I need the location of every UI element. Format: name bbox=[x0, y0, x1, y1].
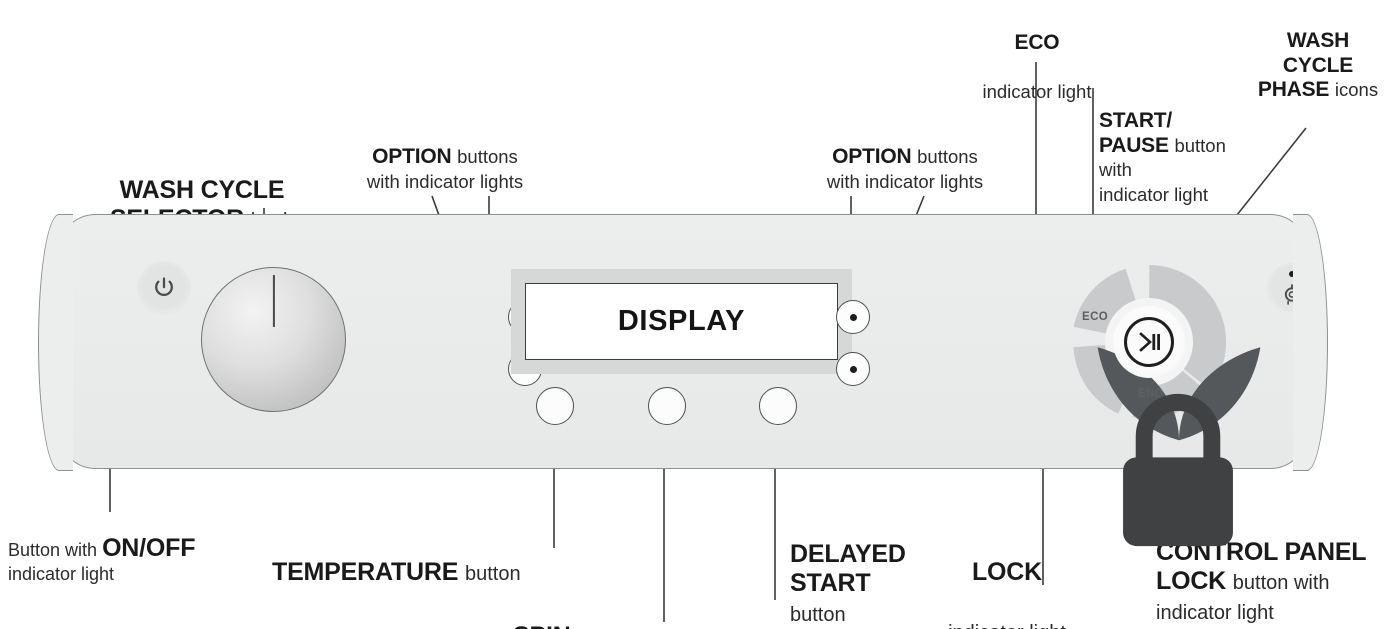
control-panel: DISPLAY bbox=[55, 214, 1311, 469]
start-pause-button[interactable] bbox=[1113, 306, 1185, 378]
indicator-dot-icon bbox=[1289, 271, 1295, 277]
knob-pointer-mark bbox=[272, 275, 274, 327]
display-text: DISPLAY bbox=[618, 305, 745, 338]
indicator-dot-icon bbox=[850, 314, 857, 321]
callout-temperature-normal: button bbox=[465, 563, 521, 585]
display-bezel: DISPLAY bbox=[511, 269, 852, 374]
wash-cycle-phase-dial: ECO END bbox=[1056, 249, 1242, 435]
callout-delayed-start-normal: button bbox=[790, 604, 846, 626]
padlock-icon bbox=[1085, 377, 1271, 563]
callout-wash-cycle-phase: WASH CYCLE PHASE icons bbox=[1255, 4, 1381, 103]
callout-temperature: TEMPERATURE button bbox=[272, 528, 572, 587]
callout-on-off-pre: Button with bbox=[8, 540, 102, 560]
callout-on-off: Button with ON/OFF indicator light bbox=[8, 512, 258, 586]
callout-option-right: OPTION buttons with indicator lights bbox=[770, 120, 1040, 194]
option-button-right-bottom[interactable] bbox=[836, 352, 870, 386]
wash-cycle-selector-knob[interactable] bbox=[201, 267, 346, 412]
option-button-right-top[interactable] bbox=[836, 300, 870, 334]
callout-option-left-bold: OPTION bbox=[372, 145, 457, 168]
callout-eco-normal: indicator light bbox=[982, 81, 1091, 102]
dial-end-label: END bbox=[1138, 388, 1163, 400]
callout-start-pause: START/ PAUSE button with indicator light bbox=[1099, 84, 1259, 208]
on-off-button[interactable] bbox=[137, 261, 191, 315]
callout-temperature-bold: TEMPERATURE bbox=[272, 558, 465, 586]
callout-delayed-start-bold: DELAYED START bbox=[790, 540, 906, 598]
start-pause-ring bbox=[1124, 317, 1174, 367]
display-screen: DISPLAY bbox=[525, 283, 838, 360]
diagram-canvas: WASH CYCLE SELECTOR knob OPTION buttons … bbox=[0, 0, 1387, 629]
callout-spin: SPIN button bbox=[513, 592, 733, 629]
power-icon bbox=[151, 275, 177, 301]
callout-option-left: OPTION buttons with indicator lights bbox=[310, 120, 580, 194]
callout-lock: LOCK indicator light bbox=[925, 528, 1089, 629]
callout-wash-cycle-phase-normal: icons bbox=[1335, 79, 1378, 100]
callout-eco-bold: ECO bbox=[1015, 31, 1060, 54]
dial-eco-label: ECO bbox=[1082, 311, 1108, 323]
callout-start-pause-bold: START/ PAUSE bbox=[1099, 109, 1174, 157]
spin-button[interactable] bbox=[648, 387, 686, 425]
control-panel-lock-button[interactable] bbox=[1267, 263, 1317, 313]
callout-spin-bold: SPIN bbox=[513, 622, 577, 629]
temperature-button[interactable] bbox=[536, 387, 574, 425]
delayed-start-button[interactable] bbox=[759, 387, 797, 425]
callout-on-off-normal: indicator light bbox=[8, 564, 114, 584]
callout-on-off-bold: ON/OFF bbox=[102, 534, 195, 562]
play-pause-icon bbox=[1136, 329, 1162, 355]
callout-lock-bold: LOCK bbox=[972, 558, 1042, 586]
callout-option-right-bold: OPTION bbox=[832, 145, 917, 168]
indicator-dot-icon bbox=[850, 366, 857, 373]
callout-lock-normal: indicator light bbox=[948, 622, 1066, 629]
key-lock-icon bbox=[1283, 284, 1302, 305]
